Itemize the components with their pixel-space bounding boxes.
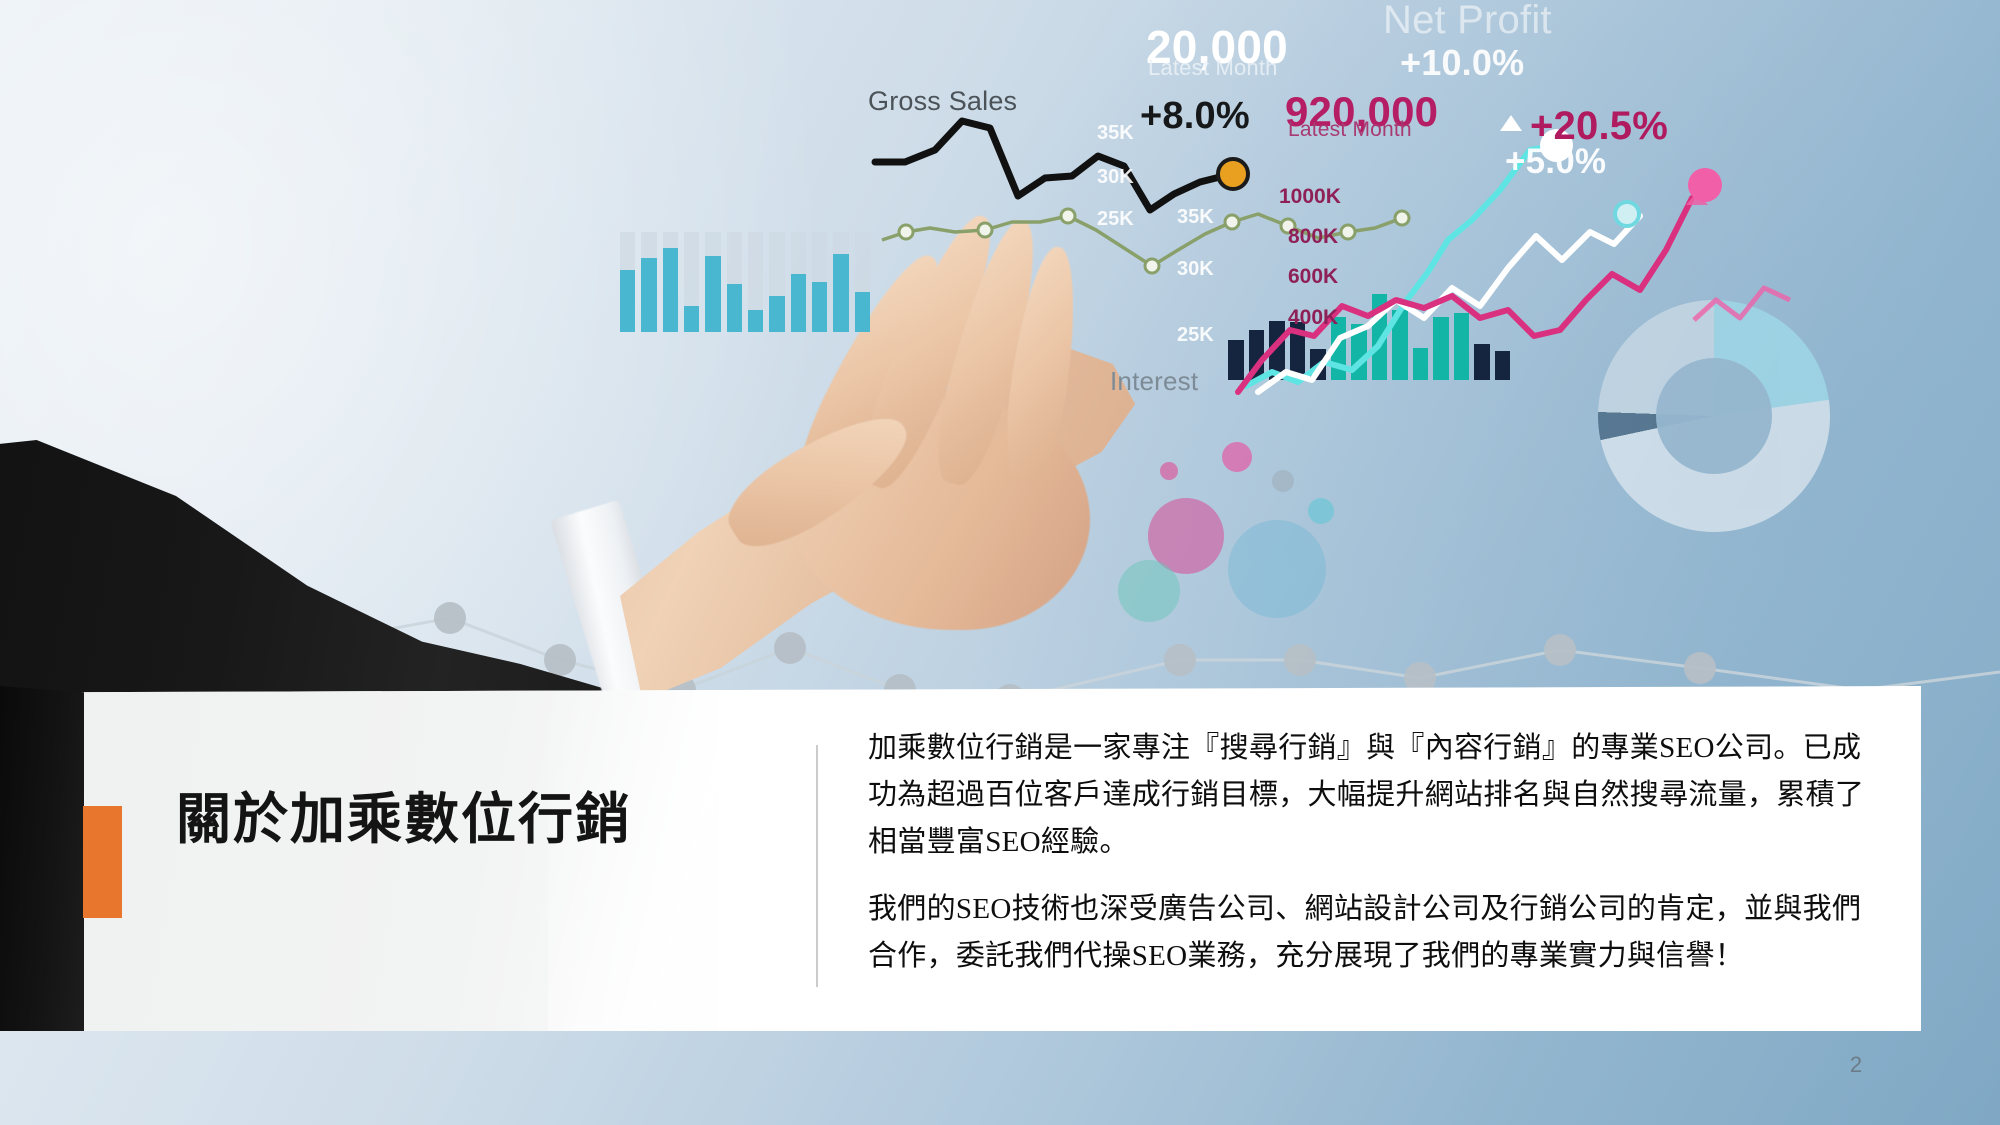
triangle-up-white-icon [1500, 115, 1522, 131]
gross-change: +8.0% [1140, 95, 1250, 138]
net-profit-label: Net Profit [1383, 0, 1552, 43]
axis-tick-mid-35k: 35K [1177, 206, 1214, 229]
interest-label: Interest [1110, 366, 1198, 397]
page-title: 關於加乘數位行銷 [176, 786, 756, 853]
axis-tick-400k: 400K [1288, 306, 1338, 330]
axis-tick-left-35k: 35K [1097, 122, 1134, 145]
body-text: 加乘數位行銷是一家專注『搜尋行銷』與『內容行銷』的專業SEO公司。已成功為超過百… [868, 725, 1878, 980]
marker-dot-pink [1688, 168, 1722, 202]
net-profit-change: +10.0% [1400, 42, 1524, 84]
card-gleam [548, 686, 878, 1031]
left-dark-strip [0, 686, 84, 1031]
gross-value-sub: Latest Month [1148, 55, 1278, 81]
axis-tick-left-30k: 30K [1097, 166, 1134, 189]
axis-tick-800k: 800K [1288, 225, 1338, 249]
vertical-divider [816, 745, 818, 987]
profit-value-sub: Latest Month [1288, 118, 1412, 142]
paragraph-1: 加乘數位行銷是一家專注『搜尋行銷』與『內容行銷』的專業SEO公司。已成功為超過百… [868, 725, 1878, 866]
marker-dot-cyan [1613, 200, 1641, 228]
paragraph-2: 我們的SEO技術也深受廣告公司、網站設計公司及行銷公司的肯定，並與我們合作，委託… [868, 886, 1878, 980]
change-50: +5.0% [1505, 142, 1606, 182]
axis-tick-mid-25k: 25K [1177, 324, 1214, 347]
slide-root: Gross Sales Interest 20,000 Latest Month… [0, 0, 2000, 1125]
axis-tick-left-25k: 25K [1097, 208, 1134, 231]
marker-dot-orange [1216, 157, 1250, 191]
accent-bar-orange [83, 806, 122, 918]
gross-sales-label: Gross Sales [868, 86, 1017, 117]
axis-tick-1000k: 1000K [1279, 185, 1341, 209]
axis-tick-600k: 600K [1288, 265, 1338, 289]
axis-tick-mid-30k: 30K [1177, 258, 1214, 281]
pink-accent-line [1694, 288, 1790, 320]
page-number: 2 [1836, 1052, 1876, 1078]
